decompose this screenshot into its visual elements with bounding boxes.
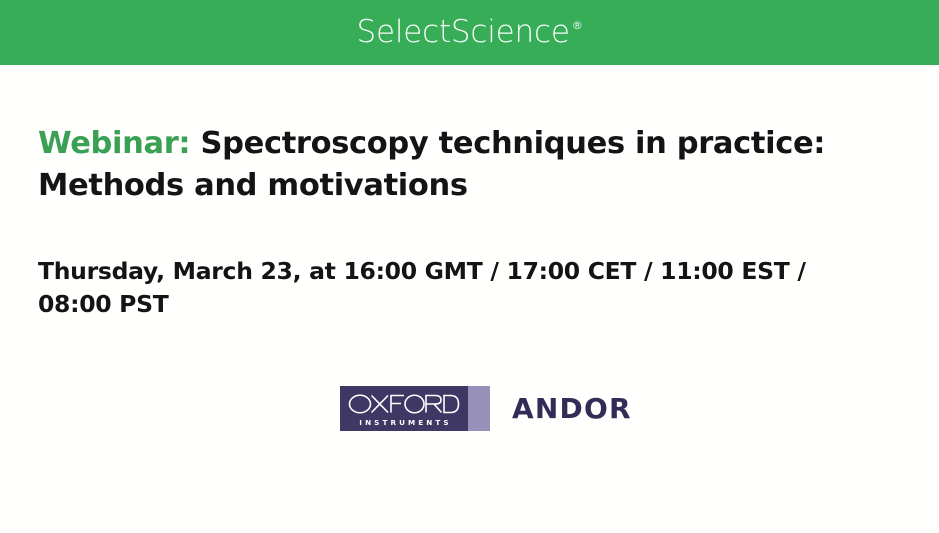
- registered-trademark-icon: ®: [572, 20, 583, 31]
- page-title: Webinar: Spectroscopy techniques in prac…: [38, 123, 878, 207]
- sponsor-logo-divider: [468, 386, 490, 431]
- selectscience-wordmark: SelectScience: [356, 17, 569, 48]
- sponsor-logo-lockup[interactable]: INSTRUMENTS ANDOR: [340, 386, 632, 431]
- webinar-schedule-text: Thursday, March 23, at 16:00 GMT / 17:00…: [38, 255, 883, 322]
- andor-wordmark-text: ANDOR: [512, 395, 632, 423]
- oxford-instruments-logo[interactable]: INSTRUMENTS: [340, 386, 468, 431]
- andor-logo[interactable]: ANDOR: [512, 386, 632, 431]
- webinar-eyebrow-label: Webinar:: [38, 126, 190, 161]
- selectscience-logo[interactable]: SelectScience ®: [356, 17, 582, 48]
- oxford-instruments-subtext: INSTRUMENTS: [356, 419, 451, 426]
- slide-content: Webinar: Spectroscopy techniques in prac…: [0, 65, 939, 533]
- brand-header-bar: SelectScience ®: [0, 0, 939, 65]
- oxford-wordmark-icon: [348, 392, 460, 417]
